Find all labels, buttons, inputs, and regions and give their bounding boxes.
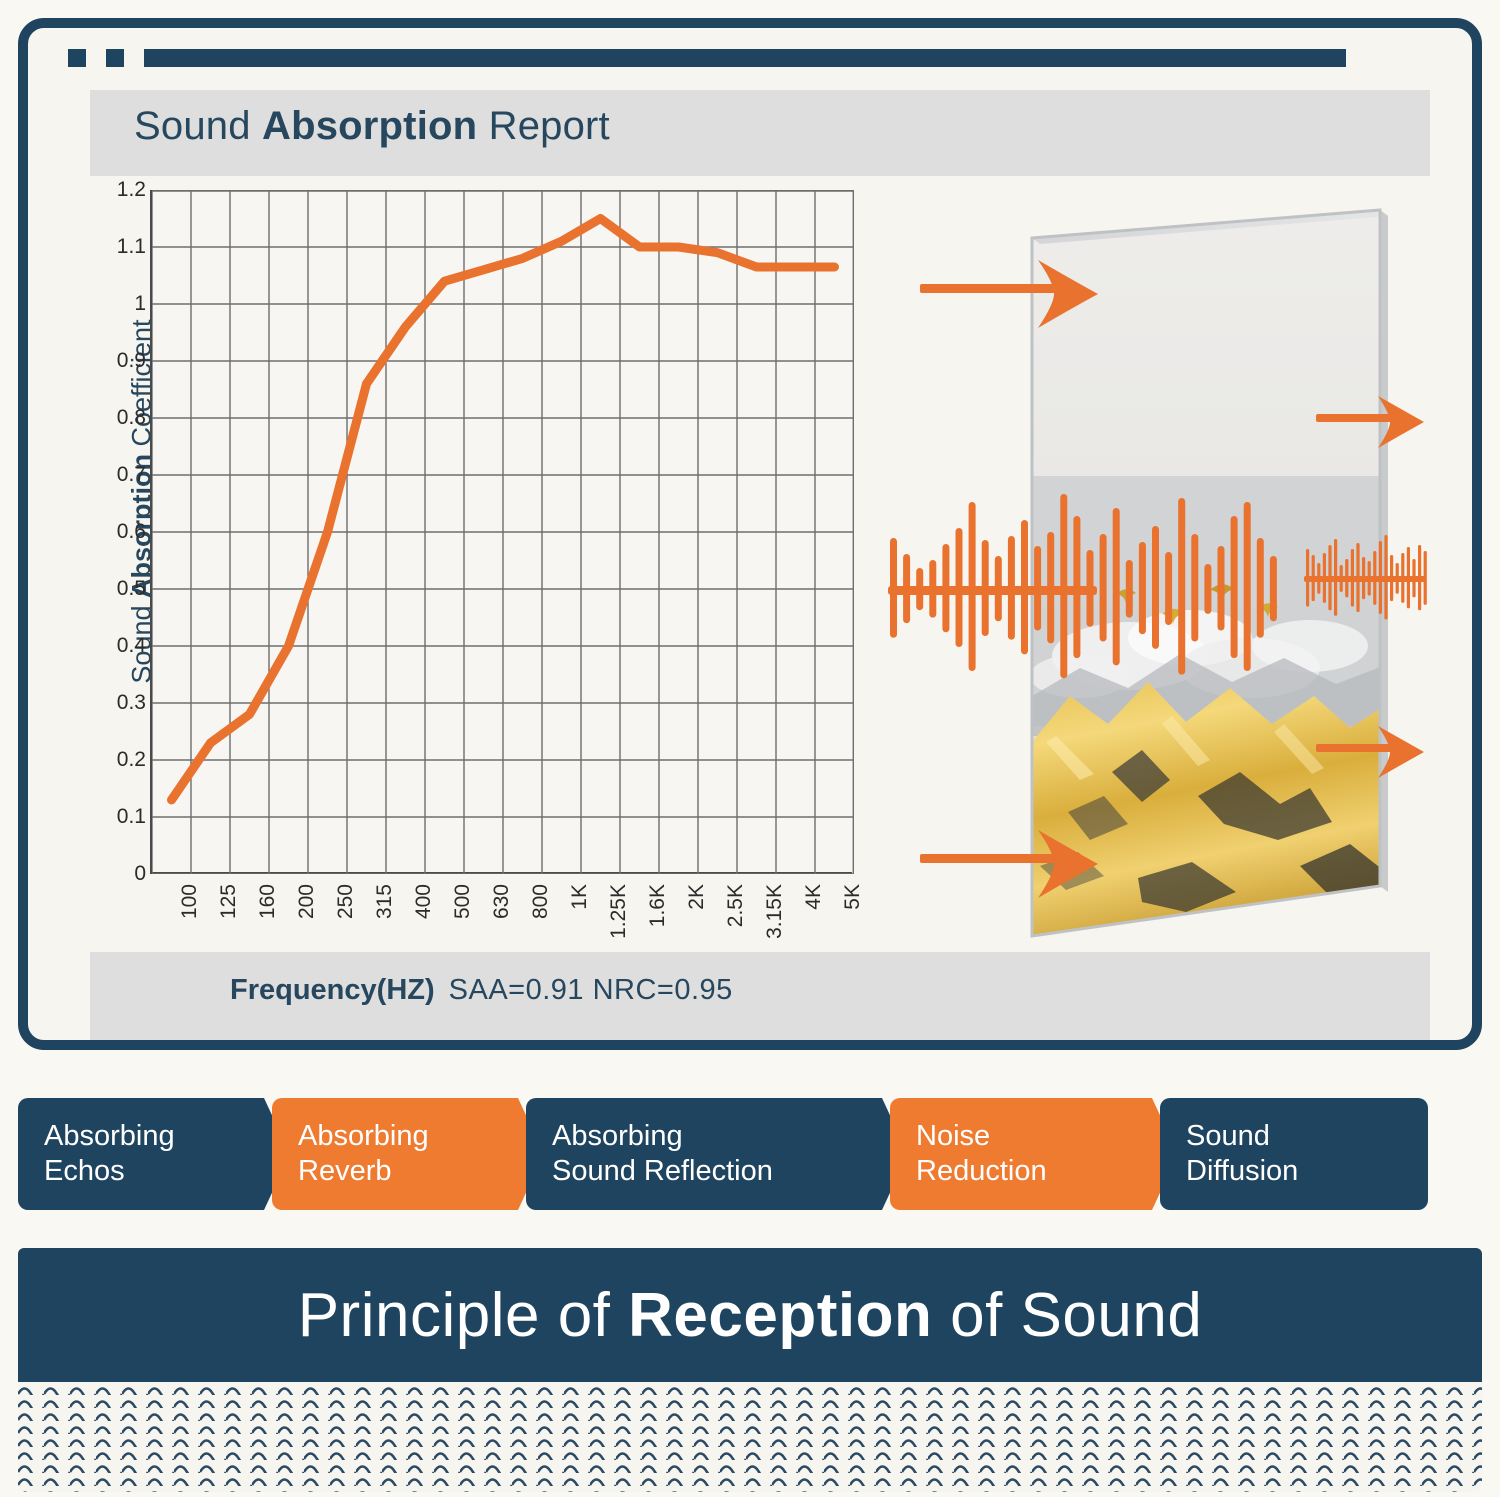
chart-x-tick: 630 [490, 884, 514, 919]
banner-title: Principle of Reception of Sound [298, 1280, 1203, 1351]
badge-line-2: Diffusion [1186, 1154, 1298, 1189]
chart-y-tick: 0 [94, 862, 146, 886]
chart-y-tick: 0.9 [94, 349, 146, 373]
chart-y-axis-ticks: 00.10.20.30.40.50.60.70.80.911.11.2 [90, 190, 146, 874]
titlebar-decoration [64, 45, 1350, 71]
badge-line-1: Absorbing [298, 1119, 429, 1154]
chart-x-tick: 1K [568, 884, 592, 910]
feature-badge[interactable]: AbsorbingSound Reflection [526, 1098, 908, 1210]
report-footer: Frequency(HZ)SAA=0.91 NRC=0.95 [90, 952, 1430, 1040]
chart-x-tick: 800 [529, 884, 553, 919]
chart-series-line [152, 190, 854, 874]
banner-suffix: of Sound [932, 1281, 1202, 1350]
chart-y-tick: 1 [94, 292, 146, 316]
feature-badge[interactable]: NoiseReduction [890, 1098, 1178, 1210]
feature-badge[interactable]: SoundDiffusion [1160, 1098, 1428, 1210]
badge-line-2: Echos [44, 1154, 175, 1189]
chart-x-tick: 1.25K [607, 884, 631, 939]
panel-diagram-svg [880, 176, 1430, 952]
absorption-chart: Sound Absorption Coefficient 00.10.20.30… [90, 184, 880, 954]
report-header: Sound Absorption Report [90, 90, 1430, 176]
acoustic-metrics: SAA=0.91 NRC=0.95 [449, 974, 733, 1006]
badge-line-1: Noise [916, 1119, 1047, 1154]
sound-absorption-report-card: Sound Absorption Report Sound Absorption… [90, 90, 1430, 1040]
badge-line-2: Reverb [298, 1154, 429, 1189]
chart-x-tick: 400 [412, 884, 436, 919]
chart-y-tick: 0.6 [94, 520, 146, 544]
banner-bold: Reception [628, 1281, 932, 1350]
feature-badge[interactable]: AbsorbingReverb [272, 1098, 544, 1210]
chart-y-tick: 0.7 [94, 463, 146, 487]
frequency-label: Frequency(HZ) [230, 974, 435, 1006]
badge-line-2: Sound Reflection [552, 1154, 773, 1189]
feature-badge-row: AbsorbingEchosAbsorbingReverbAbsorbingSo… [18, 1098, 1482, 1210]
chart-y-tick: 1.1 [94, 235, 146, 259]
chart-y-tick: 0.5 [94, 577, 146, 601]
window-frame: Sound Absorption Report Sound Absorption… [18, 18, 1482, 1050]
chart-y-tick: 0.3 [94, 691, 146, 715]
chart-plot-area [150, 190, 852, 874]
acoustic-panel-illustration [880, 176, 1430, 952]
chart-x-tick: 200 [295, 884, 319, 919]
badge-line-1: Sound [1186, 1119, 1298, 1154]
chart-x-tick: 3.15K [763, 884, 787, 939]
chart-x-tick: 2.5K [724, 884, 748, 927]
report-title-prefix: Sound [134, 104, 262, 148]
chart-x-tick: 2K [685, 884, 709, 910]
report-title-suffix: Report [477, 104, 610, 148]
report-title-bold: Absorption [262, 104, 477, 148]
bottom-banner: Principle of Reception of Sound [18, 1248, 1482, 1382]
chart-y-tick: 1.2 [94, 178, 146, 202]
chart-x-tick: 100 [178, 884, 202, 919]
chart-y-tick: 0.1 [94, 805, 146, 829]
panel-artwork [1030, 476, 1392, 952]
badge-line-1: Absorbing [44, 1119, 175, 1154]
chart-x-tick: 5K [841, 884, 865, 910]
chart-x-tick: 1.6K [646, 884, 670, 927]
titlebar-square-2 [102, 45, 128, 71]
chart-x-tick: 160 [256, 884, 280, 919]
absorption-curve [172, 219, 835, 800]
page-title: Sound Absorption Report [134, 104, 610, 149]
titlebar-square-1 [64, 45, 90, 71]
badge-line-2: Reduction [916, 1154, 1047, 1189]
feature-badge-label: AbsorbingReverb [298, 1119, 429, 1190]
badge-line-1: Absorbing [552, 1119, 773, 1154]
feature-badge-label: AbsorbingEchos [44, 1119, 175, 1190]
report-body: Sound Absorption Coefficient 00.10.20.30… [90, 176, 1430, 952]
banner-prefix: Principle of [298, 1281, 628, 1350]
feature-badge-label: SoundDiffusion [1186, 1119, 1298, 1190]
feature-badge[interactable]: AbsorbingEchos [18, 1098, 290, 1210]
chart-x-tick: 500 [451, 884, 475, 919]
titlebar-bar [140, 45, 1350, 71]
chart-x-tick: 125 [217, 884, 241, 919]
chart-x-tick: 250 [334, 884, 358, 919]
wave-texture-svg [18, 1382, 1482, 1492]
chart-y-tick: 0.4 [94, 634, 146, 658]
feature-badge-label: AbsorbingSound Reflection [552, 1119, 773, 1190]
wave-scallop-texture [18, 1382, 1482, 1492]
chart-y-tick: 0.8 [94, 406, 146, 430]
chart-x-axis-label: Frequency(HZ)SAA=0.91 NRC=0.95 [230, 974, 733, 1007]
chart-x-tick: 4K [802, 884, 826, 910]
feature-badge-label: NoiseReduction [916, 1119, 1047, 1190]
infographic-root: Sound Absorption Report Sound Absorption… [0, 0, 1500, 1497]
chart-x-tick: 315 [373, 884, 397, 919]
chart-y-tick: 0.2 [94, 748, 146, 772]
